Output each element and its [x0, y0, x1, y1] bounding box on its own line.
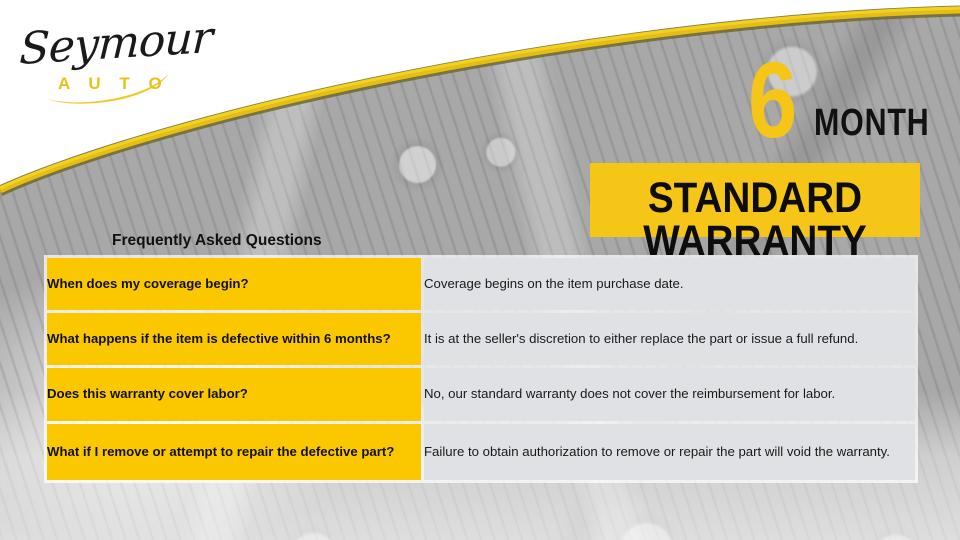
standard-warranty-banner: STANDARD WARRANTY [590, 163, 920, 237]
faq-question: Does this warranty cover labor? [47, 368, 421, 421]
faq-question: What if I remove or attempt to repair th… [47, 424, 421, 480]
faq-answer: No, our standard warranty does not cover… [424, 368, 915, 421]
table-row: What happens if the item is defective wi… [47, 313, 915, 365]
faq-heading: Frequently Asked Questions [112, 232, 322, 250]
standard-warranty-banner-text: STANDARD WARRANTY [607, 177, 904, 263]
warranty-duration-unit: MONTH [814, 104, 929, 142]
faq-answer: It is at the seller's discretion to eith… [424, 313, 915, 365]
warranty-duration-number: 6 [748, 46, 796, 154]
company-logo: Seymour A U T O [14, 16, 204, 108]
table-row: Does this warranty cover labor? No, our … [47, 368, 915, 421]
table-row: When does my coverage begin? Coverage be… [47, 258, 915, 310]
faq-question: What happens if the item is defective wi… [47, 313, 421, 365]
logo-subtext: A U T O [58, 74, 169, 94]
faq-answer: Failure to obtain authorization to remov… [424, 424, 915, 480]
warranty-slide: Seymour A U T O 6 MONTH STANDARD WARRANT… [0, 0, 960, 540]
table-row: What if I remove or attempt to repair th… [47, 424, 915, 480]
faq-table: When does my coverage begin? Coverage be… [44, 255, 918, 483]
faq-question: When does my coverage begin? [47, 258, 421, 310]
faq-answer: Coverage begins on the item purchase dat… [424, 258, 915, 310]
